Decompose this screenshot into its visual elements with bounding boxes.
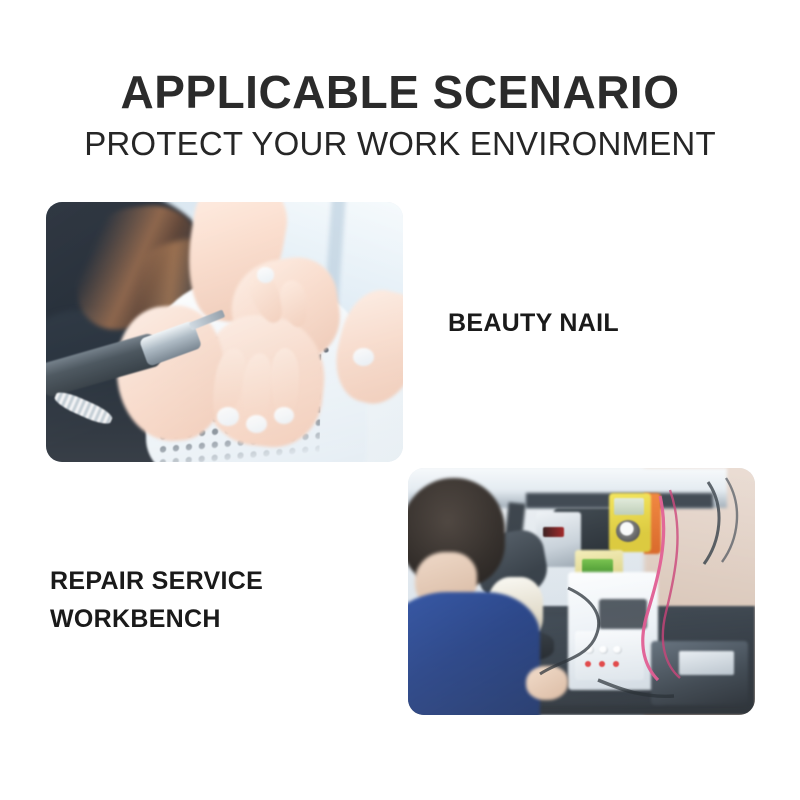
page-title: APPLICABLE SCENARIO (0, 66, 800, 118)
nail-photo-overlay (46, 202, 403, 462)
applicable-scenario-page: APPLICABLE SCENARIO PROTECT YOUR WORK EN… (0, 0, 800, 800)
scenario-caption-repair-workbench: REPAIR SERVICE WORKBENCH (50, 562, 263, 638)
page-subtitle: PROTECT YOUR WORK ENVIRONMENT (0, 124, 800, 164)
scenario-photo-beauty-nail (46, 202, 403, 462)
scenario-caption-beauty-nail: BEAUTY NAIL (448, 308, 619, 338)
scenario-photo-repair-workbench (408, 468, 755, 715)
repair-photo-overlay (408, 468, 755, 715)
